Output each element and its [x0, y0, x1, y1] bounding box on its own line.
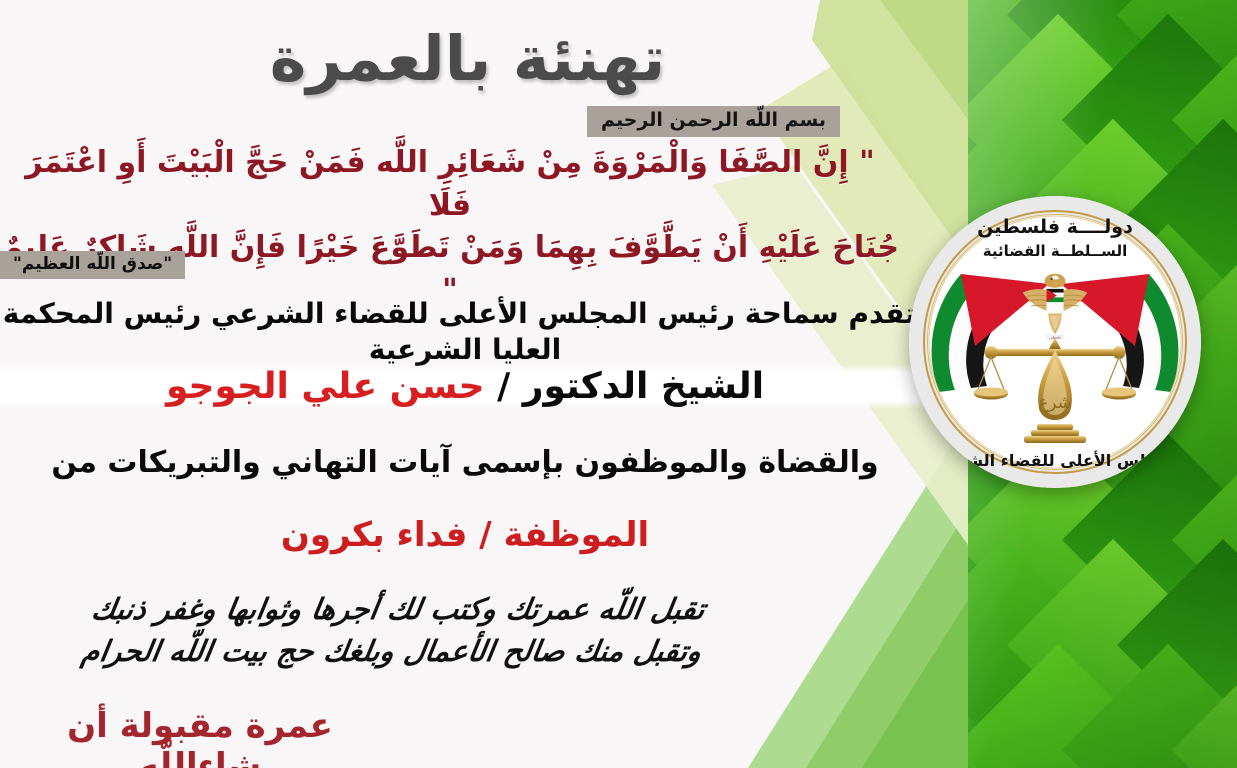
presenter-line: يتقدم سماحة رئيس المجلس الأعلى للقضاء ال…: [0, 296, 930, 369]
svg-text:شرع: شرع: [1038, 393, 1072, 413]
staff-line: والقضاة والموظفون بإسمى آيات التهاني وال…: [0, 445, 930, 480]
calligraphic-blessing: تقبل اللّه عمرتك وكتب لك أجرها وثوابها و…: [0, 588, 797, 672]
official-name: حسن علي الجوجو: [166, 366, 485, 407]
blessing-line-2: وتقبل منك صالح الأعمال وبلغك حج بيت اللّ…: [0, 630, 790, 672]
card-content: تهنئة بالعمرة بسم اللّه الرحمن الرحيم " …: [0, 0, 968, 768]
verse-line-1: " إِنَّ الصَّفَا وَالْمَرْوَةَ مِنْ شَعَ…: [0, 142, 900, 227]
judicial-council-logo: دولــــة فلسطين الســلطــة القضائية فلسط…: [909, 196, 1201, 488]
footer-wish: عمرة مقبولة أن شاءاللّه: [0, 706, 400, 768]
logo-council-label: المجلس الأعلى للقضاء الشرعي: [909, 451, 1201, 470]
quran-verse: " إِنَّ الصَّفَا وَالْمَرْوَةَ مِنْ شَعَ…: [0, 142, 900, 312]
greeting-card: تهنئة بالعمرة بسم اللّه الرحمن الرحيم " …: [0, 0, 1237, 768]
palestine-eagle-icon: فلسطين: [1017, 268, 1093, 342]
logo-authority-label: الســلطــة القضائية: [909, 242, 1201, 260]
honoree-line: الموظفة / فداء بكرون: [0, 515, 930, 555]
page-title: تهنئة بالعمرة: [0, 22, 935, 95]
blessing-line-1: تقبل اللّه عمرتك وكتب لك أجرها وثوابها و…: [0, 588, 797, 630]
honoring-official-name: الشيخ الدكتور / حسن علي الجوجو: [0, 364, 930, 409]
scales-of-justice-icon: شرع: [971, 336, 1139, 456]
sadaq-allah-band: "صدق اللّه العظيم": [0, 251, 185, 279]
official-title-prefix: الشيخ الدكتور /: [485, 366, 764, 407]
basmala-band: بسم اللّه الرحمن الرحيم: [587, 106, 840, 137]
logo-state-label: دولــــة فلسطين: [909, 216, 1201, 238]
